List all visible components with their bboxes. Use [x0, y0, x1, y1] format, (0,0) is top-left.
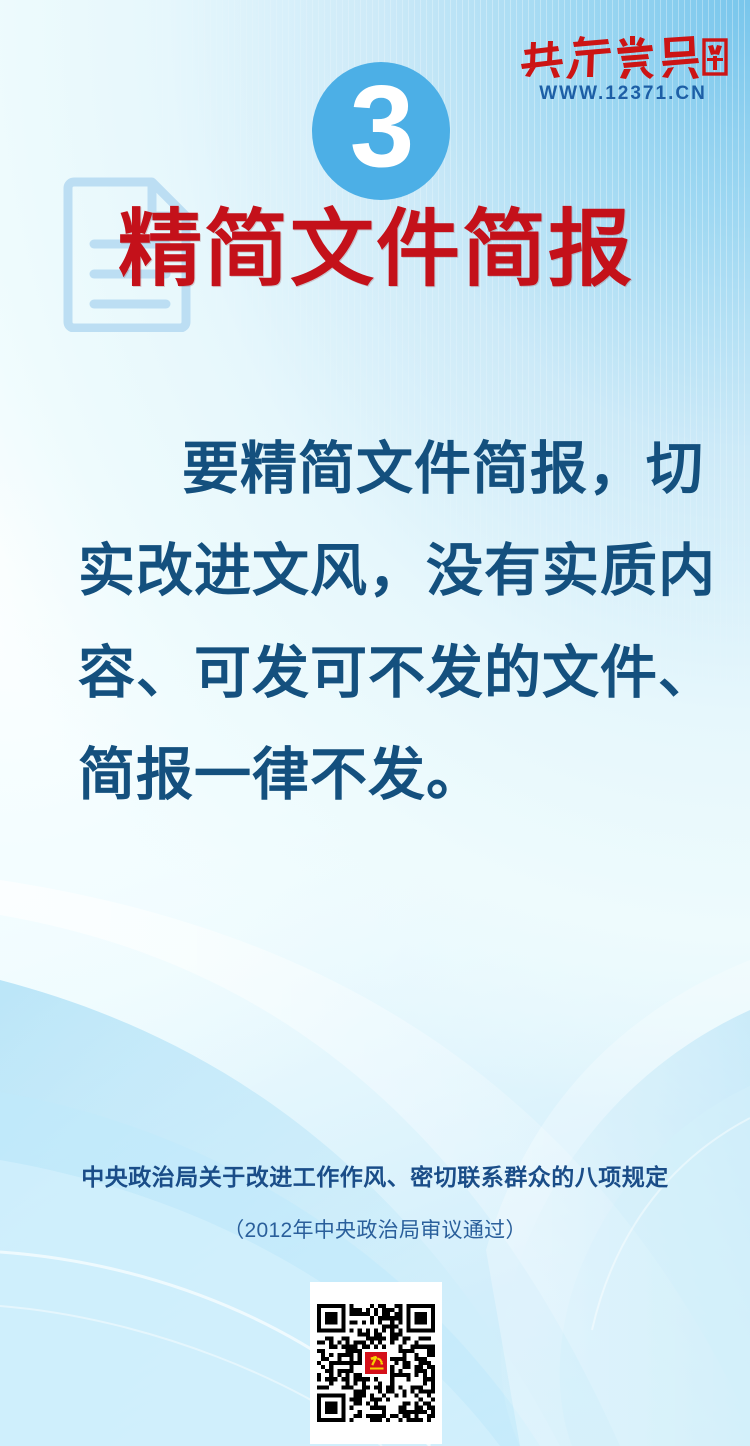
logo-url-text: WWW.12371.CN: [518, 83, 728, 105]
site-logo[interactable]: WWW.12371.CN: [518, 34, 728, 105]
logo-wordmark-icon: [518, 34, 728, 80]
number-badge: 3: [312, 62, 450, 200]
footer: 中央政治局关于改进工作作风、密切联系群众的八项规定 （2012年中央政治局审议通…: [0, 1158, 750, 1244]
footer-subtitle: （2012年中央政治局审议通过）: [0, 1214, 750, 1244]
body-line-3: 容、可发可不发的文件、: [78, 622, 678, 724]
qr-code[interactable]: [310, 1282, 442, 1444]
footer-title: 中央政治局关于改进工作作风、密切联系群众的八项规定: [0, 1158, 750, 1192]
body-line-2: 实改进文风，没有实质内: [78, 520, 678, 622]
qr-code-image: [317, 1304, 435, 1422]
poster-canvas: WWW.12371.CN 3 精简文件简报 要精简文件简报，切 实改进文风，没有…: [0, 0, 750, 1446]
body-line-1: 要精简文件简报，切: [78, 418, 678, 520]
page-title: 精简文件简报: [118, 204, 634, 295]
party-emblem-icon: [363, 1350, 389, 1376]
body-copy: 要精简文件简报，切 实改进文风，没有实质内 容、可发可不发的文件、 简报一律不发…: [78, 418, 678, 826]
body-line-4: 简报一律不发。: [78, 724, 678, 826]
number-badge-value: 3: [350, 68, 413, 184]
